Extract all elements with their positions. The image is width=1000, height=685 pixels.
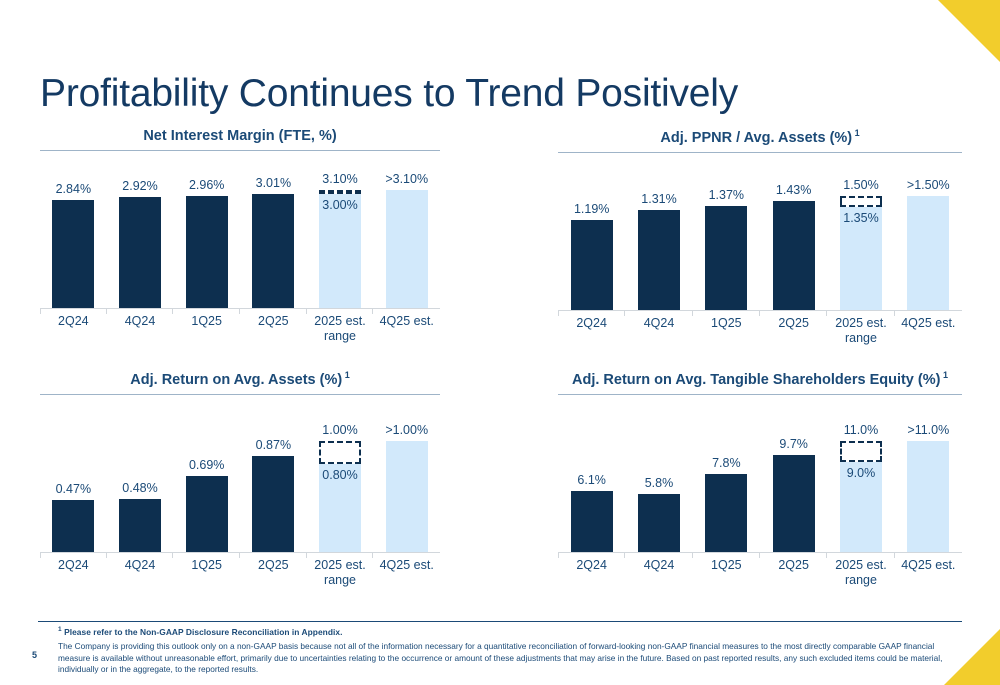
bar-4q25-est- [907, 196, 949, 311]
x-axis-category-label: 2Q25 [240, 555, 307, 591]
bar-1q25 [186, 476, 228, 553]
bar-column: 1.31% [625, 179, 692, 311]
bar-value-label: 3.01% [240, 176, 307, 190]
bar-2q24 [52, 500, 94, 553]
bar-value-label: 1.43% [760, 183, 827, 197]
bar-1q25 [186, 196, 228, 309]
category-label-line1: 4Q25 est. [901, 316, 955, 330]
category-label-line1: 4Q25 est. [380, 314, 434, 328]
bar-column: 3.01% [240, 177, 307, 309]
bar-4q24 [638, 210, 680, 311]
bar-column: >11.0% [895, 421, 962, 553]
bar-column: 6.1% [558, 421, 625, 553]
bar-column: 0.80%1.00% [307, 421, 374, 553]
category-label-line2: range [307, 573, 374, 588]
chart-title: Adj. PPNR / Avg. Assets (%) 1 [558, 128, 962, 152]
footnote-marker: 1 [58, 626, 62, 633]
bar-column: 1.37% [693, 179, 760, 311]
bar-column: >3.10% [373, 177, 440, 309]
bar-value-label: 1.37% [693, 188, 760, 202]
bar-column: >1.50% [895, 179, 962, 311]
x-axis-category-label: 2025 est.range [827, 555, 894, 591]
bar-2q25 [773, 455, 815, 553]
chart-title: Adj. Return on Avg. Assets (%) 1 [40, 370, 440, 394]
bar-4q25-est- [907, 441, 949, 553]
bar-column: 0.69% [173, 421, 240, 553]
chart-title-rule [40, 150, 440, 151]
x-axis-category-labels: 2Q244Q241Q252Q252025 est.range4Q25 est. [558, 555, 962, 591]
bar-column: 0.87% [240, 421, 307, 553]
bar-value-label-range-low: 1.35% [827, 211, 894, 225]
bar-value-label: 1.31% [625, 192, 692, 206]
bar-value-label: 7.8% [693, 456, 760, 470]
range-box [840, 441, 882, 462]
x-axis-category-label: 2Q24 [558, 555, 625, 591]
category-label-line2: range [827, 573, 894, 588]
x-axis-category-label: 2Q24 [558, 313, 625, 349]
category-label-line1: 4Q24 [125, 558, 156, 572]
category-label-line1: 2Q25 [778, 558, 809, 572]
bar-value-label-range-low: 0.80% [307, 468, 374, 482]
chart-plot-area: 2.84%2.92%2.96%3.01%3.00%3.10%>3.10%2Q24… [40, 177, 440, 347]
bar-value-label: 1.19% [558, 202, 625, 216]
bar-value-label-range-high: 1.50% [827, 178, 894, 192]
bar-column: 0.47% [40, 421, 107, 553]
bar-column: 9.0%11.0% [827, 421, 894, 553]
bar-column: 1.35%1.50% [827, 179, 894, 311]
category-label-line1: 2Q25 [778, 316, 809, 330]
category-label-line1: 1Q25 [191, 558, 222, 572]
x-axis-category-label: 1Q25 [693, 313, 760, 349]
category-label-line1: 2Q25 [258, 558, 289, 572]
x-axis-category-labels: 2Q244Q241Q252Q252025 est.range4Q25 est. [40, 555, 440, 591]
category-label-line1: 2Q24 [576, 316, 607, 330]
category-label-line1: 4Q25 est. [901, 558, 955, 572]
chart-title: Adj. Return on Avg. Tangible Shareholder… [558, 370, 962, 394]
category-label-line1: 2025 est. [314, 314, 365, 328]
category-label-line1: 4Q24 [644, 558, 675, 572]
bar-2q24 [52, 200, 94, 309]
x-axis-category-label: 2025 est.range [307, 555, 374, 591]
chart-panel-adj-return-avg-assets: Adj. Return on Avg. Assets (%) 10.47%0.4… [40, 370, 440, 595]
range-box [319, 190, 361, 194]
bar-4q25-est- [386, 441, 428, 553]
bar-group: 0.47%0.48%0.69%0.87%0.80%1.00%>1.00% [40, 421, 440, 553]
chart-title-rule [558, 394, 962, 395]
bar-4q25-est- [386, 190, 428, 309]
chart-title-rule [40, 394, 440, 395]
x-axis-category-label: 1Q25 [173, 311, 240, 347]
range-box [319, 441, 361, 464]
bar-column: 1.19% [558, 179, 625, 311]
bar-column: 1.43% [760, 179, 827, 311]
category-label-line1: 1Q25 [711, 316, 742, 330]
chart-title-rule [558, 152, 962, 153]
chart-plot-area: 6.1%5.8%7.8%9.7%9.0%11.0%>11.0%2Q244Q241… [558, 421, 962, 591]
bar-column: 3.00%3.10% [307, 177, 374, 309]
bar-2q24 [571, 491, 613, 553]
x-axis-category-labels: 2Q244Q241Q252Q252025 est.range4Q25 est. [40, 311, 440, 347]
x-axis-category-label: 4Q25 est. [895, 555, 962, 591]
chart-title-footnote-marker: 1 [940, 370, 948, 380]
x-axis-category-label: 4Q24 [625, 313, 692, 349]
page-title: Profitability Continues to Trend Positiv… [40, 72, 738, 116]
category-label-line1: 2025 est. [314, 558, 365, 572]
bar-4q24 [638, 494, 680, 553]
bar-2q24 [571, 220, 613, 311]
category-label-line1: 4Q24 [125, 314, 156, 328]
bar-column: 7.8% [693, 421, 760, 553]
x-axis-category-label: 2Q25 [240, 311, 307, 347]
bar-group: 6.1%5.8%7.8%9.7%9.0%11.0%>11.0% [558, 421, 962, 553]
x-axis-category-label: 2025 est.range [307, 311, 374, 347]
chart-title: Net Interest Margin (FTE, %) [40, 128, 440, 150]
x-axis-category-label: 1Q25 [693, 555, 760, 591]
bar-1q25 [705, 206, 747, 311]
bar-column: 2.92% [107, 177, 174, 309]
bar-value-label-range-high: 3.10% [307, 172, 374, 186]
x-axis-category-label: 2Q25 [760, 313, 827, 349]
range-box [840, 196, 882, 207]
category-label-line1: 4Q25 est. [380, 558, 434, 572]
footnote-1: 1 Please refer to the Non-GAAP Disclosur… [58, 626, 342, 637]
bar-group: 2.84%2.92%2.96%3.01%3.00%3.10%>3.10% [40, 177, 440, 309]
chart-title-footnote-marker: 1 [852, 128, 860, 138]
x-axis-category-labels: 2Q244Q241Q252Q252025 est.range4Q25 est. [558, 313, 962, 349]
category-label-line1: 1Q25 [191, 314, 222, 328]
bar-value-label: >1.00% [373, 423, 440, 437]
footnote-2-text: The Company is providing this outlook on… [58, 641, 958, 676]
chart-panel-adj-ppnr-avg-assets: Adj. PPNR / Avg. Assets (%) 11.19%1.31%1… [558, 128, 962, 353]
chart-panel-adj-return-tangible-equity: Adj. Return on Avg. Tangible Shareholder… [558, 370, 962, 595]
category-label-line1: 2Q25 [258, 314, 289, 328]
bar-2q25 [252, 194, 294, 309]
x-axis-category-label: 4Q25 est. [895, 313, 962, 349]
bar-column: 2.84% [40, 177, 107, 309]
bar-value-label: >3.10% [373, 172, 440, 186]
bar-value-label-range-high: 11.0% [827, 423, 894, 437]
x-axis-category-label: 4Q25 est. [373, 311, 440, 347]
bar-value-label: 0.48% [107, 481, 174, 495]
category-label-line1: 2Q24 [576, 558, 607, 572]
bar-value-label: 0.69% [173, 458, 240, 472]
bar-column: 5.8% [625, 421, 692, 553]
bar-column: >1.00% [373, 421, 440, 553]
bar-1q25 [705, 474, 747, 553]
bar-value-label: 9.7% [760, 437, 827, 451]
bar-value-label: 0.47% [40, 482, 107, 496]
bar-value-label-range-low: 3.00% [307, 198, 374, 212]
page-number: 5 [32, 650, 37, 660]
category-label-line2: range [827, 331, 894, 346]
x-axis-category-label: 2Q25 [760, 555, 827, 591]
bar-value-label: >11.0% [895, 423, 962, 437]
x-axis-category-label: 1Q25 [173, 555, 240, 591]
chart-panel-net-interest-margin: Net Interest Margin (FTE, %)2.84%2.92%2.… [40, 128, 440, 353]
bar-value-label-range-low: 9.0% [827, 466, 894, 480]
category-label-line1: 2Q24 [58, 314, 89, 328]
bar-2q25 [773, 201, 815, 311]
footer-divider [38, 621, 962, 622]
category-label-line1: 2025 est. [835, 316, 886, 330]
bar-value-label: 2.84% [40, 182, 107, 196]
chart-plot-area: 0.47%0.48%0.69%0.87%0.80%1.00%>1.00%2Q24… [40, 421, 440, 591]
x-axis-category-label: 4Q25 est. [373, 555, 440, 591]
bar-value-label: 6.1% [558, 473, 625, 487]
category-label-line1: 2025 est. [835, 558, 886, 572]
chart-title-footnote-marker: 1 [342, 370, 350, 380]
bar-group: 1.19%1.31%1.37%1.43%1.35%1.50%>1.50% [558, 179, 962, 311]
bar-value-label-range-high: 1.00% [307, 423, 374, 437]
x-axis-category-label: 2Q24 [40, 311, 107, 347]
chart-plot-area: 1.19%1.31%1.37%1.43%1.35%1.50%>1.50%2Q24… [558, 179, 962, 349]
x-axis-category-label: 2Q24 [40, 555, 107, 591]
category-label-line1: 1Q25 [711, 558, 742, 572]
footnote-1-text: Please refer to the Non-GAAP Disclosure … [64, 627, 342, 637]
bar-value-label: >1.50% [895, 178, 962, 192]
bar-column: 2.96% [173, 177, 240, 309]
category-label-line1: 2Q24 [58, 558, 89, 572]
category-label-line2: range [307, 329, 374, 344]
x-axis-category-label: 4Q24 [625, 555, 692, 591]
bar-4q24 [119, 197, 161, 309]
bar-column: 0.48% [107, 421, 174, 553]
bar-4q24 [119, 499, 161, 553]
bar-value-label: 5.8% [625, 476, 692, 490]
bar-value-label: 2.92% [107, 179, 174, 193]
category-label-line1: 4Q24 [644, 316, 675, 330]
bar-2q25 [252, 456, 294, 553]
x-axis-category-label: 4Q24 [107, 555, 174, 591]
x-axis-category-label: 4Q24 [107, 311, 174, 347]
bar-value-label: 0.87% [240, 438, 307, 452]
corner-accent-top-right [938, 0, 1000, 62]
bar-column: 9.7% [760, 421, 827, 553]
bar-value-label: 2.96% [173, 178, 240, 192]
x-axis-category-label: 2025 est.range [827, 313, 894, 349]
